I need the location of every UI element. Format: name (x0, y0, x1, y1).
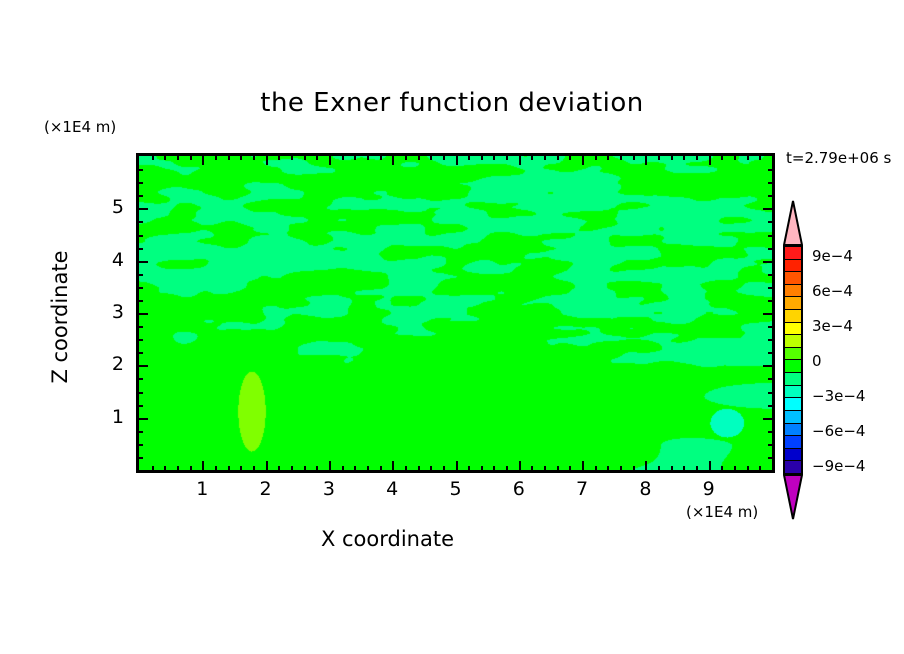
y-tick-right (763, 313, 775, 315)
x-tick-top (531, 153, 533, 160)
x-tick-top (709, 153, 711, 165)
y-tick-left (136, 248, 143, 250)
y-tick-right (768, 431, 775, 433)
x-tick-bottom (190, 466, 192, 473)
y-tick-right (768, 392, 775, 394)
colorbar-over-arrow-icon (783, 200, 803, 246)
x-tick-top (506, 153, 508, 160)
x-tick-bottom (405, 466, 407, 473)
x-tick-top (493, 153, 495, 160)
y-tick-left (136, 195, 143, 197)
y-tick-label: 2 (96, 353, 124, 375)
y-tick-left (136, 457, 143, 459)
colorbar-band (785, 448, 801, 461)
x-tick-bottom (721, 466, 723, 473)
y-tick-left (136, 261, 148, 263)
x-tick-top (405, 153, 407, 160)
x-tick-top (164, 153, 166, 160)
x-tick-bottom (329, 461, 331, 473)
x-tick-bottom (443, 466, 445, 473)
x-tick-bottom (354, 466, 356, 473)
y-tick-left (136, 182, 143, 184)
x-tick-top (658, 153, 660, 160)
y-tick-right (768, 378, 775, 380)
x-tick-bottom (253, 466, 255, 473)
x-tick-bottom (671, 466, 673, 473)
colorbar-under-arrow-icon (783, 473, 803, 520)
x-tick-bottom (493, 466, 495, 473)
y-tick-left (136, 352, 143, 354)
x-tick-top (683, 153, 685, 160)
x-tick-top (468, 153, 470, 160)
x-tick-top (759, 153, 761, 160)
y-tick-right (768, 457, 775, 459)
y-tick-right (768, 444, 775, 446)
colorbar-band (785, 247, 801, 259)
colorbar-band (785, 423, 801, 436)
y-tick-right (768, 221, 775, 223)
x-tick-top (202, 153, 204, 165)
y-tick-right (768, 300, 775, 302)
x-tick-top (152, 153, 154, 160)
colorbar-tick-label: −9e−4 (812, 457, 865, 475)
colorbar-band (785, 296, 801, 309)
x-tick-top (721, 153, 723, 160)
x-tick-bottom (633, 466, 635, 473)
x-tick-top (696, 153, 698, 160)
x-tick-top (215, 153, 217, 160)
colorbar-band (785, 309, 801, 322)
y-axis-unit-label: (×1E4 m) (44, 118, 116, 136)
x-tick-label: 1 (182, 478, 222, 500)
y-tick-left (136, 365, 148, 367)
x-tick-bottom (152, 466, 154, 473)
x-tick-top (367, 153, 369, 160)
y-tick-label: 1 (96, 406, 124, 428)
x-tick-bottom (266, 461, 268, 473)
y-tick-left (136, 300, 143, 302)
x-tick-bottom (759, 466, 761, 473)
x-tick-top (645, 153, 647, 165)
y-tick-left (136, 287, 143, 289)
x-tick-top (569, 153, 571, 160)
y-tick-left (136, 405, 143, 407)
x-tick-bottom (164, 466, 166, 473)
x-tick-bottom (316, 466, 318, 473)
y-tick-right (768, 287, 775, 289)
colorbar-band (785, 410, 801, 423)
x-tick-top (671, 153, 673, 160)
y-tick-right (768, 274, 775, 276)
y-tick-right (768, 352, 775, 354)
x-tick-bottom (620, 466, 622, 473)
x-tick-bottom (380, 466, 382, 473)
x-tick-top (734, 153, 736, 160)
y-tick-label: 3 (96, 301, 124, 323)
colorbar-tick-label: 9e−4 (812, 247, 853, 265)
x-tick-top (392, 153, 394, 165)
x-tick-top (430, 153, 432, 160)
x-tick-bottom (747, 466, 749, 473)
x-tick-label: 9 (689, 478, 729, 500)
x-tick-top (747, 153, 749, 160)
plot-area (136, 153, 775, 473)
x-tick-top (291, 153, 293, 160)
x-tick-bottom (481, 466, 483, 473)
y-tick-label: 5 (96, 196, 124, 218)
colorbar-tick-label: 0 (812, 352, 822, 370)
y-tick-right (763, 261, 775, 263)
x-tick-top (456, 153, 458, 165)
x-tick-top (633, 153, 635, 160)
x-tick-top (620, 153, 622, 160)
colorbar-band (785, 372, 801, 385)
x-tick-top (228, 153, 230, 160)
timestamp-label: t=2.79e+06 s (786, 149, 891, 167)
contour-plot-figure: the Exner function deviation (×1E4 m) (×… (0, 0, 904, 654)
x-tick-bottom (367, 466, 369, 473)
x-tick-bottom (645, 461, 647, 473)
x-tick-top (557, 153, 559, 160)
colorbar-band (785, 385, 801, 398)
x-tick-bottom (683, 466, 685, 473)
y-tick-right (763, 208, 775, 210)
colorbar-band (785, 334, 801, 347)
colorbar-band (785, 359, 801, 372)
x-tick-bottom (418, 466, 420, 473)
x-tick-bottom (278, 466, 280, 473)
colorbar-band (785, 460, 801, 473)
x-tick-top (443, 153, 445, 160)
x-tick-top (607, 153, 609, 160)
x-tick-bottom (531, 466, 533, 473)
x-tick-top (354, 153, 356, 160)
colorbar-tick-label: −6e−4 (812, 422, 865, 440)
y-tick-left (136, 392, 143, 394)
x-tick-bottom (607, 466, 609, 473)
x-tick-bottom (595, 466, 597, 473)
y-tick-right (768, 339, 775, 341)
x-tick-bottom (658, 466, 660, 473)
x-axis-unit-label: (×1E4 m) (686, 503, 758, 521)
x-tick-bottom (569, 466, 571, 473)
y-tick-left (136, 208, 148, 210)
colorbar-bands (783, 245, 803, 475)
x-tick-bottom (468, 466, 470, 473)
x-tick-bottom (544, 466, 546, 473)
x-tick-top (342, 153, 344, 160)
x-tick-bottom (456, 461, 458, 473)
y-tick-left (136, 378, 143, 380)
x-tick-bottom (215, 466, 217, 473)
y-tick-right (768, 169, 775, 171)
x-tick-top (380, 153, 382, 160)
y-tick-label: 4 (96, 249, 124, 271)
x-tick-bottom (392, 461, 394, 473)
y-tick-right (763, 365, 775, 367)
x-tick-bottom (304, 466, 306, 473)
colorbar-band (785, 347, 801, 360)
x-tick-top (595, 153, 597, 160)
y-tick-left (136, 431, 143, 433)
x-tick-top (418, 153, 420, 160)
y-tick-left (136, 444, 143, 446)
x-tick-bottom (709, 461, 711, 473)
y-tick-left (136, 274, 143, 276)
x-tick-bottom (506, 466, 508, 473)
x-axis-title: X coordinate (0, 527, 775, 551)
x-tick-bottom (519, 461, 521, 473)
x-tick-top (304, 153, 306, 160)
colorbar-tick-label: 3e−4 (812, 317, 853, 335)
x-tick-label: 3 (309, 478, 349, 500)
chart-title: the Exner function deviation (0, 88, 904, 118)
x-tick-bottom (696, 466, 698, 473)
x-tick-bottom (557, 466, 559, 473)
x-tick-top (544, 153, 546, 160)
x-tick-top (329, 153, 331, 165)
y-axis-title: Z coordinate (48, 197, 72, 437)
y-tick-right (768, 195, 775, 197)
colorbar (781, 200, 805, 520)
x-tick-top (253, 153, 255, 160)
colorbar-band (785, 322, 801, 335)
x-tick-top (519, 153, 521, 165)
y-tick-left (136, 418, 148, 420)
y-tick-right (768, 405, 775, 407)
x-tick-top (266, 153, 268, 165)
x-tick-top (240, 153, 242, 160)
colorbar-band (785, 284, 801, 297)
x-tick-top (582, 153, 584, 165)
y-tick-left (136, 169, 143, 171)
x-tick-top (316, 153, 318, 160)
colorbar-band (785, 397, 801, 410)
x-tick-bottom (202, 461, 204, 473)
colorbar-band (785, 259, 801, 272)
y-tick-left (136, 221, 143, 223)
x-tick-bottom (582, 461, 584, 473)
y-tick-left (136, 326, 143, 328)
colorbar-tick-label: −3e−4 (812, 387, 865, 405)
y-tick-left (136, 313, 148, 315)
colorbar-tick-label: 6e−4 (812, 282, 853, 300)
x-tick-label: 5 (436, 478, 476, 500)
colorbar-band (785, 435, 801, 448)
x-tick-top (190, 153, 192, 160)
x-tick-label: 2 (246, 478, 286, 500)
x-tick-label: 8 (625, 478, 665, 500)
x-tick-label: 6 (499, 478, 539, 500)
colorbar-band (785, 271, 801, 284)
x-tick-top (177, 153, 179, 160)
y-tick-right (763, 418, 775, 420)
x-tick-bottom (291, 466, 293, 473)
x-tick-bottom (342, 466, 344, 473)
x-tick-label: 7 (562, 478, 602, 500)
x-tick-top (481, 153, 483, 160)
x-tick-bottom (228, 466, 230, 473)
x-tick-bottom (734, 466, 736, 473)
x-tick-label: 4 (372, 478, 412, 500)
x-tick-bottom (177, 466, 179, 473)
y-tick-left (136, 235, 143, 237)
x-tick-bottom (430, 466, 432, 473)
y-tick-right (768, 248, 775, 250)
contour-field (139, 156, 772, 470)
y-tick-right (768, 182, 775, 184)
y-tick-left (136, 339, 143, 341)
x-tick-bottom (240, 466, 242, 473)
y-tick-right (768, 235, 775, 237)
x-tick-top (278, 153, 280, 160)
y-tick-right (768, 326, 775, 328)
